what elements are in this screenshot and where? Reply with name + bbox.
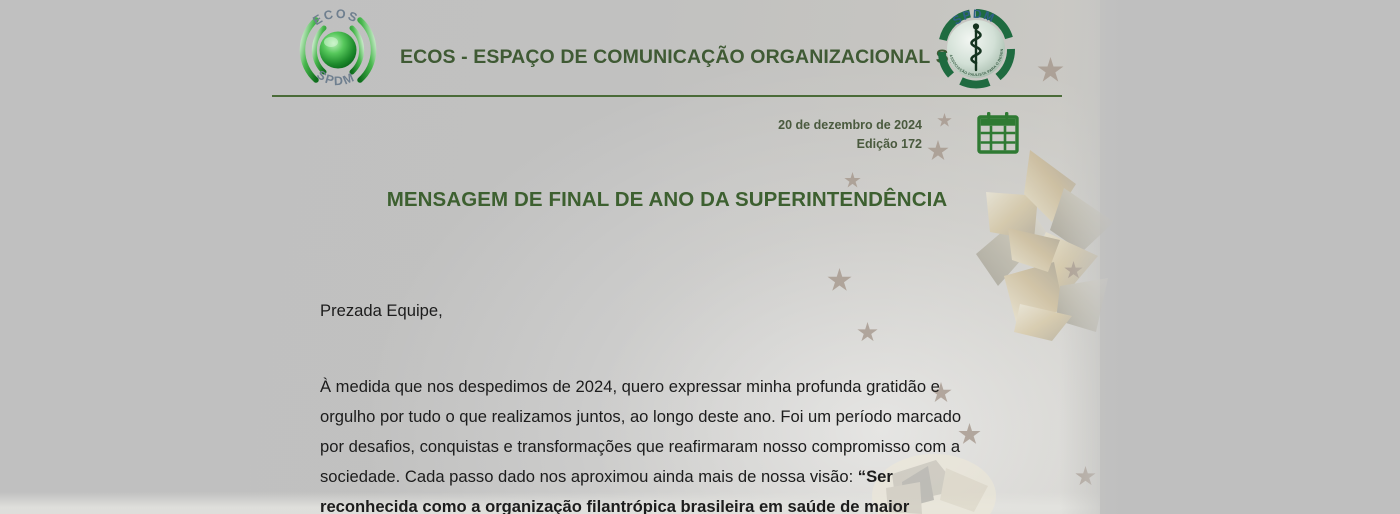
newsletter-page: ECOS SPDM ECOS - ESPAÇO DE COMUNICAÇÃO O… (0, 0, 1400, 514)
date-block: 20 de dezembro de 2024 Edição 172 (700, 116, 922, 154)
masthead-title: ECOS - ESPAÇO DE COMUNICAÇÃO ORGANIZACIO… (400, 46, 992, 69)
newsletter-header: ECOS SPDM ECOS - ESPAÇO DE COMUNICAÇÃO O… (272, 2, 1062, 94)
ecos-radio-waves-logo: ECOS SPDM (286, 4, 390, 96)
svg-text:ECOS: ECOS (310, 7, 360, 28)
issue-date: 20 de dezembro de 2024 (700, 116, 922, 135)
spdm-caduceus-seal-logo: SPDM ASSOCIAÇÃO PAULISTA PARA O DESENVOL… (930, 2, 1022, 94)
svg-text:SPDM: SPDM (314, 68, 357, 89)
salutation: Prezada Equipe, (320, 296, 980, 326)
header-divider (272, 95, 1062, 97)
calendar-icon (976, 112, 1020, 154)
newsletter-body: Prezada Equipe, À medida que nos despedi… (320, 296, 980, 514)
page-title: MENSAGEM DE FINAL DE ANO DA SUPERINTENDÊ… (272, 188, 1062, 212)
issue-edition: Edição 172 (700, 135, 922, 154)
body-paragraph: À medida que nos despedimos de 2024, que… (320, 372, 980, 514)
